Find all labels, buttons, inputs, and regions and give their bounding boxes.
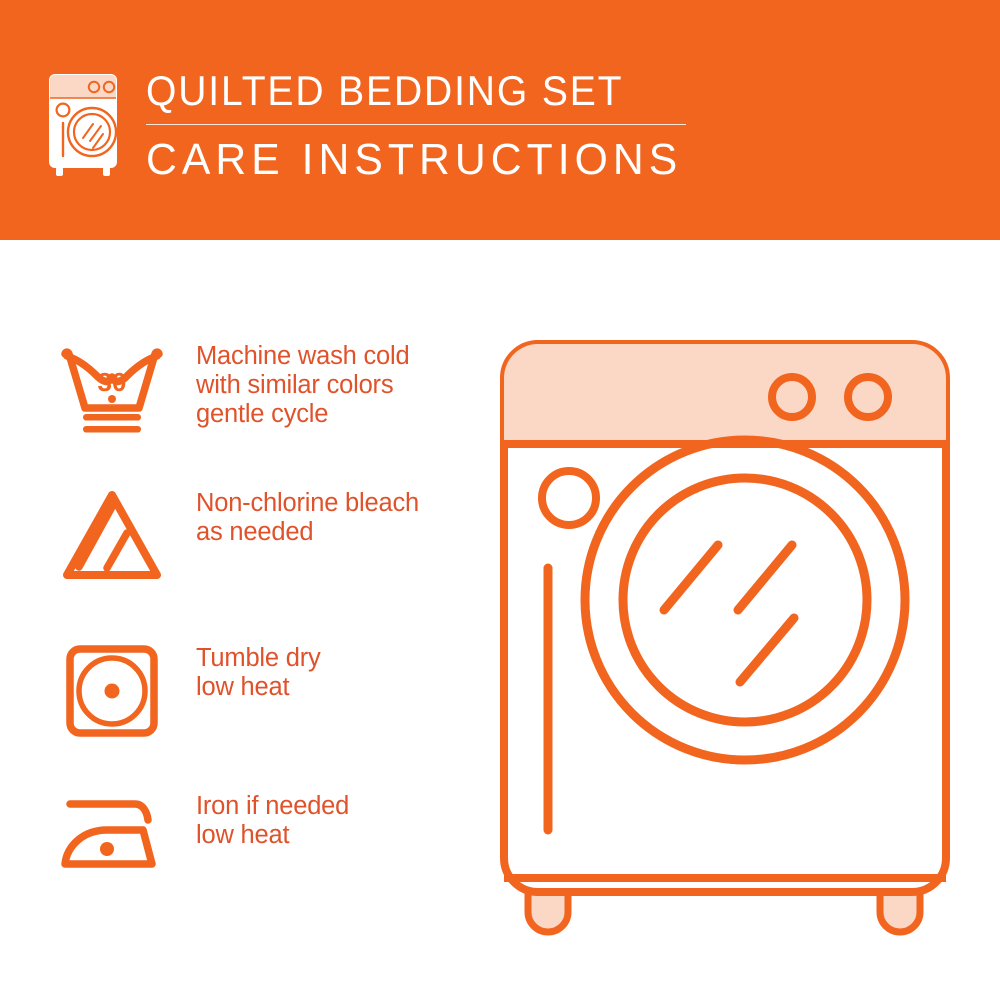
- iron-low-heat-symbol: [48, 788, 176, 888]
- care-text-line: Tumble dry: [196, 644, 321, 673]
- washing-machine-icon: [44, 72, 126, 178]
- non-chlorine-bleach-symbol: [48, 485, 176, 585]
- care-row-tumble-dry: Tumble dry low heat: [48, 640, 478, 740]
- care-instruction-list: 30 Machine wash cold with similar colors…: [0, 240, 480, 1000]
- care-row-bleach: Non-chlorine bleach as needed: [48, 485, 478, 585]
- page-title: QUILTED BEDDING SET: [146, 66, 797, 116]
- title-divider: [146, 124, 686, 125]
- machine-wash-30-gentle-symbol: 30: [48, 338, 176, 438]
- care-text-line: Non-chlorine bleach: [196, 489, 419, 518]
- care-text-line: Iron if needed: [196, 792, 349, 821]
- care-row-iron: Iron if needed low heat: [48, 788, 478, 888]
- header-banner: QUILTED BEDDING SET CARE INSTRUCTIONS: [0, 0, 1000, 240]
- page-subtitle: CARE INSTRUCTIONS: [146, 134, 825, 186]
- care-text-line: Machine wash cold: [196, 342, 409, 371]
- care-text-bleach: Non-chlorine bleach as needed: [196, 485, 419, 547]
- care-row-machine-wash: 30 Machine wash cold with similar colors…: [48, 338, 478, 438]
- wash-temperature-label: 30: [98, 367, 127, 397]
- care-text-line: with similar colors: [196, 371, 409, 400]
- care-text-machine-wash: Machine wash cold with similar colors ge…: [196, 338, 409, 429]
- control-panel: [504, 344, 946, 444]
- tumble-dry-low-heat-symbol: [48, 640, 176, 740]
- care-instructions-infographic: QUILTED BEDDING SET CARE INSTRUCTIONS 30: [0, 0, 1000, 1000]
- care-text-line: low heat: [196, 673, 321, 702]
- care-text-iron: Iron if needed low heat: [196, 788, 349, 850]
- care-text-line: gentle cycle: [196, 400, 409, 429]
- care-text-line: as needed: [196, 518, 419, 547]
- care-text-line: low heat: [196, 821, 349, 850]
- washing-machine-illustration: [490, 330, 970, 950]
- care-text-tumble-dry: Tumble dry low heat: [196, 640, 321, 702]
- header-title-group: QUILTED BEDDING SET CARE INSTRUCTIONS: [146, 66, 846, 186]
